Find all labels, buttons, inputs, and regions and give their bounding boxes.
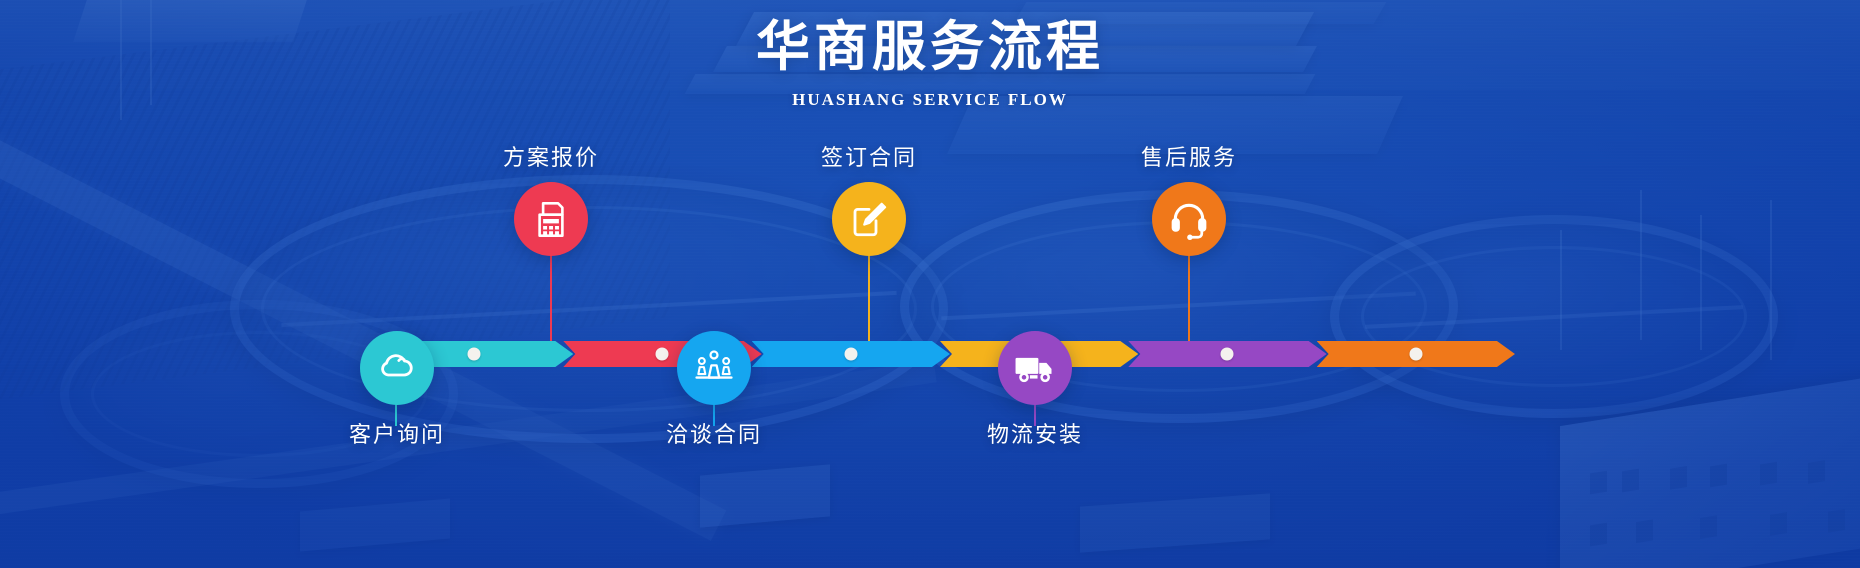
banner-heading: 华商服务流程 HUASHANG SERVICE FLOW bbox=[0, 0, 1860, 110]
flow-step-label-4: 签订合同 bbox=[759, 140, 979, 172]
flow-step-label-5: 物流安装 bbox=[925, 417, 1145, 449]
delivery-truck-icon bbox=[1013, 351, 1057, 385]
page-title: 华商服务流程 bbox=[0, 16, 1860, 80]
flow-step-label-6: 售后服务 bbox=[1079, 140, 1299, 172]
flow-step-icon-circle-4[interactable] bbox=[832, 182, 906, 256]
headset-support-icon bbox=[1167, 198, 1211, 240]
flow-step-icon-circle-6[interactable] bbox=[1152, 182, 1226, 256]
page-subtitle: HUASHANG SERVICE FLOW bbox=[0, 90, 1860, 110]
pen-sign-icon bbox=[848, 198, 890, 240]
flow-step-icon-circle-3[interactable] bbox=[677, 331, 751, 405]
flow-step-icon-circle-5[interactable] bbox=[998, 331, 1072, 405]
flow-step-1[interactable]: 客户询问 bbox=[287, 331, 507, 449]
flow-step-6[interactable]: 售后服务 bbox=[1079, 140, 1299, 256]
flow-step-icon-circle-2[interactable] bbox=[514, 182, 588, 256]
flow-step-3[interactable]: 洽谈合同 bbox=[604, 331, 824, 449]
flow-step-2[interactable]: 方案报价 bbox=[441, 140, 661, 256]
connector-stem-6 bbox=[1188, 248, 1190, 354]
flow-segment-dot bbox=[844, 348, 857, 361]
flow-step-label-1: 客户询问 bbox=[287, 417, 507, 449]
service-flow-banner: 华商服务流程 HUASHANG SERVICE FLOW 客户询问方案报价洽谈合… bbox=[0, 0, 1860, 568]
flow-segment-6[interactable] bbox=[1317, 341, 1515, 367]
flow-step-icon-circle-1[interactable] bbox=[360, 331, 434, 405]
connector-stem-2 bbox=[550, 248, 552, 354]
connector-stem-4 bbox=[868, 248, 870, 354]
cloud-chat-icon bbox=[376, 347, 418, 389]
flow-step-4[interactable]: 签订合同 bbox=[759, 140, 979, 256]
flow-step-label-2: 方案报价 bbox=[441, 140, 661, 172]
meeting-people-icon bbox=[693, 348, 735, 388]
flow-segment-5[interactable] bbox=[1128, 341, 1326, 367]
flow-segment-dot bbox=[1221, 348, 1234, 361]
flow-step-5[interactable]: 物流安装 bbox=[925, 331, 1145, 449]
flow-step-label-3: 洽谈合同 bbox=[604, 417, 824, 449]
flow-segment-dot bbox=[1409, 348, 1422, 361]
calculator-receipt-icon bbox=[531, 198, 571, 240]
